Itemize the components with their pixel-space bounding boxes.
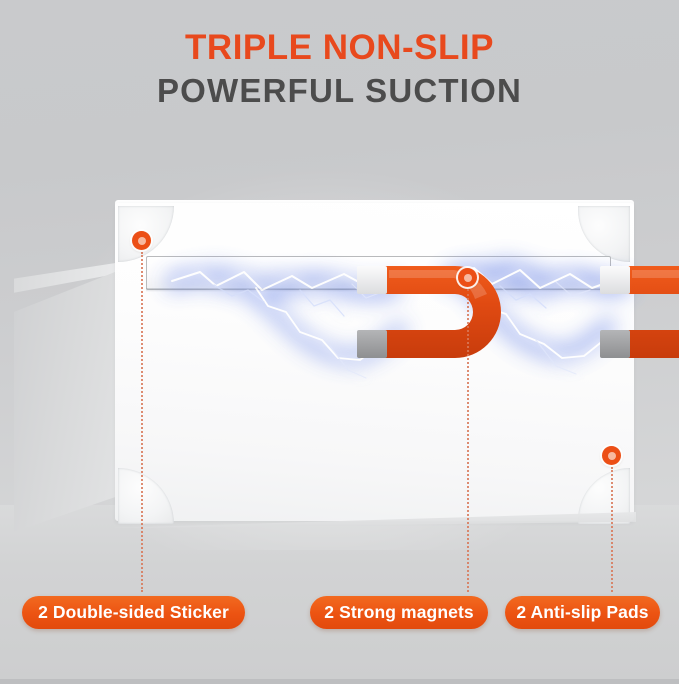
callout-line-antislip <box>611 467 613 592</box>
horseshoe-magnet-left <box>355 252 545 377</box>
callout-line-magnets <box>467 289 469 592</box>
callout-dot-antislip[interactable] <box>602 446 621 465</box>
label-pill-sticker-text: 2 Double-sided Sticker <box>38 602 229 623</box>
label-pill-antislip-text: 2 Anti-slip Pads <box>516 602 648 623</box>
label-pill-magnets-text: 2 Strong magnets <box>324 602 473 623</box>
product-marketing-image: TRIPLE NON-SLIP POWERFUL SUCTION <box>0 0 679 679</box>
label-pill-strong-magnets[interactable]: 2 Strong magnets <box>310 596 488 629</box>
callout-line-sticker <box>141 252 143 592</box>
label-pill-anti-slip-pads[interactable]: 2 Anti-slip Pads <box>505 596 660 629</box>
label-pill-double-sided-sticker[interactable]: 2 Double-sided Sticker <box>22 596 245 629</box>
product-box <box>0 0 679 679</box>
horseshoe-magnet-right <box>598 252 679 377</box>
box-left-side-panel <box>14 270 120 532</box>
callout-dot-sticker[interactable] <box>132 231 151 250</box>
callout-dot-magnets[interactable] <box>458 268 477 287</box>
